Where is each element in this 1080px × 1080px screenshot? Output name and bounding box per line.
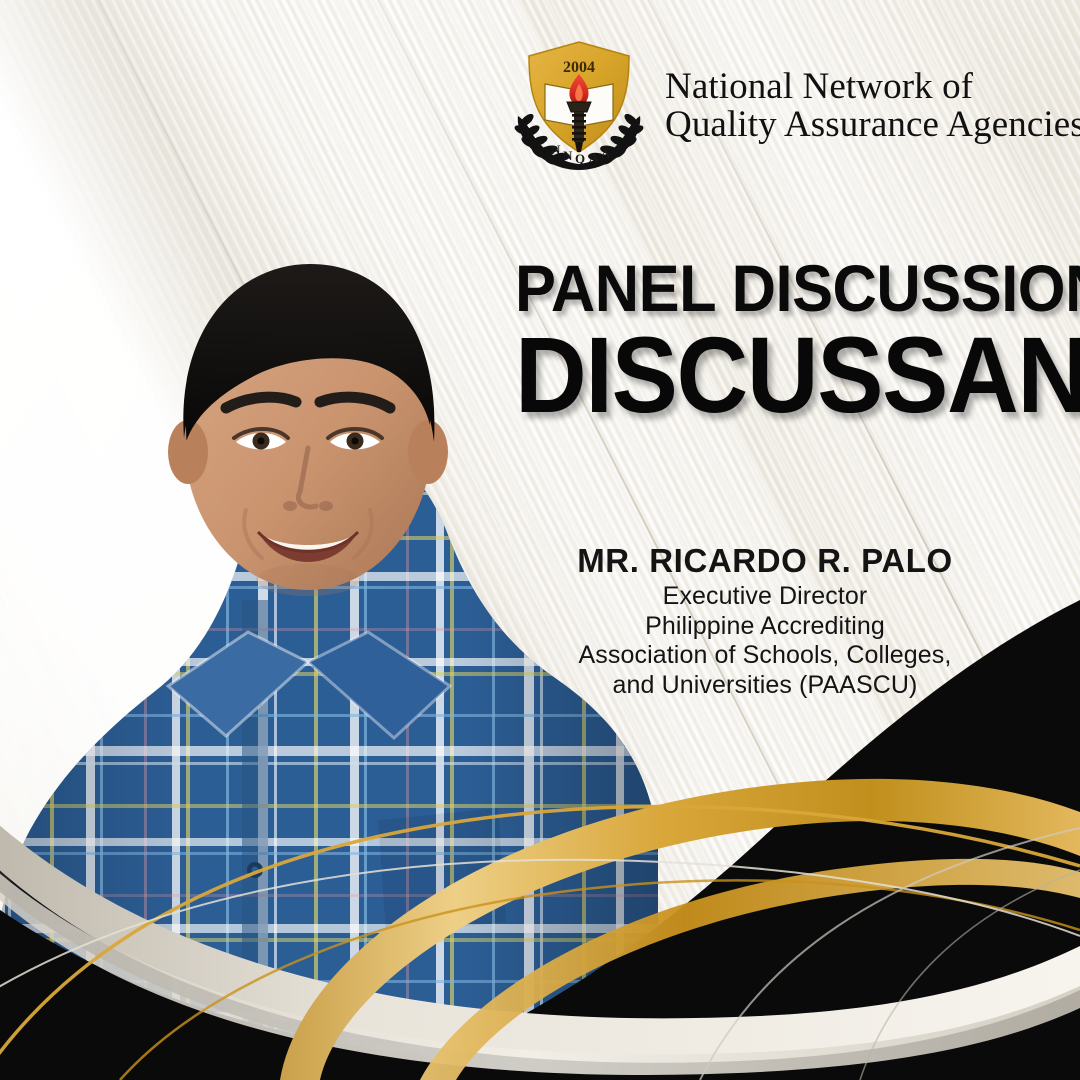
event-announcement-poster: 2004 [0, 0, 1080, 1080]
speaker-role: Executive Director Philippine Accreditin… [505, 582, 1025, 700]
headline-block: PANEL DISCUSSION DISCUSSANT [515, 258, 1025, 424]
headline-eyebrow: PANEL DISCUSSION [515, 258, 989, 319]
nnqaa-shield-emblem-icon: 2004 [505, 34, 653, 174]
speaker-role-line-4: and Universities (PAASCU) [505, 671, 1025, 701]
decorative-ribbons [0, 660, 1080, 1080]
speaker-name: MR. RICARDO R. PALO [505, 543, 1025, 579]
speaker-info-block: MR. RICARDO R. PALO Executive Director P… [505, 543, 1025, 700]
speaker-role-line-2: Philippine Accrediting [505, 612, 1025, 642]
logo-wordmark: National Network of Quality Assurance Ag… [665, 64, 1080, 143]
nnqaa-logo: 2004 [505, 34, 1065, 174]
logo-year-text: 2004 [563, 59, 595, 76]
headline-title: DISCUSSANT [515, 325, 984, 424]
speaker-role-line-1: Executive Director [505, 582, 1025, 612]
speaker-role-line-3: Association of Schools, Colleges, [505, 641, 1025, 671]
logo-line-2: Quality Assurance Agencies Inc [665, 106, 1080, 144]
logo-line-1: National Network of [665, 68, 1080, 106]
